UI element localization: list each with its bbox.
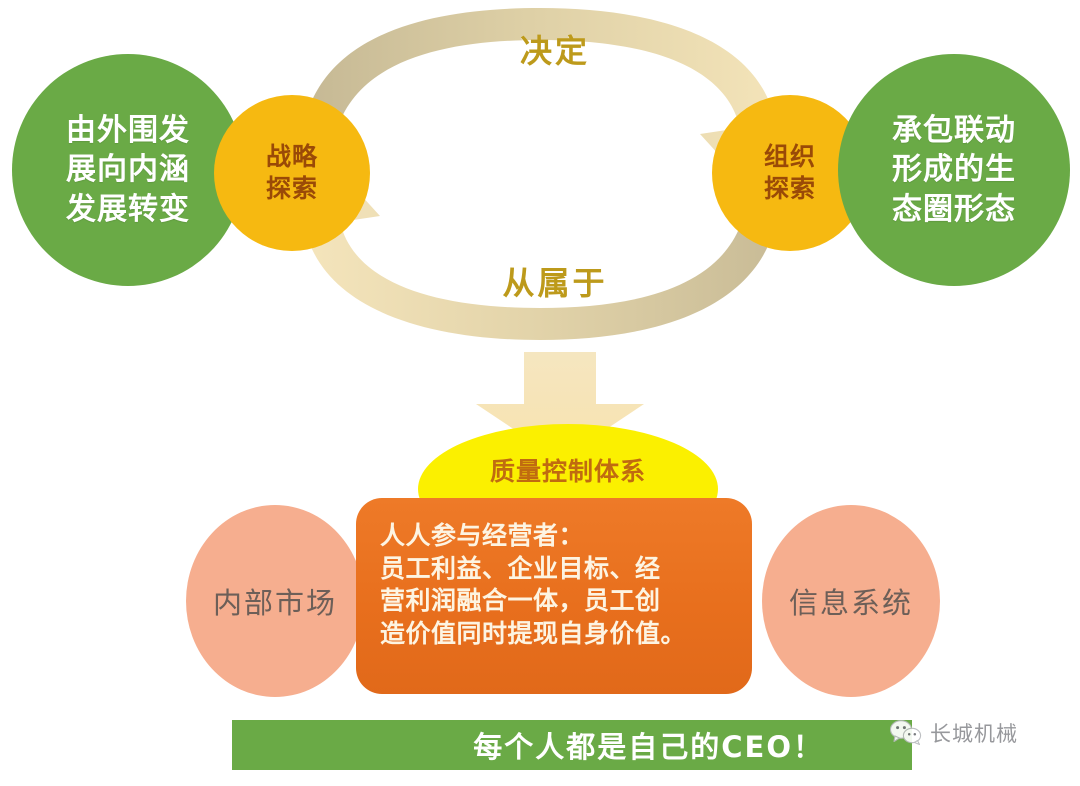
diagram-canvas: 由外围发 展向内涵 发展转变 战略 探索 组织 探索 承包联动 形成的生 态圈形… — [0, 0, 1080, 786]
watermark: 长城机械 — [890, 718, 1018, 748]
relation-label-belongs-to: 从属于 — [455, 258, 655, 304]
ellipse-information-system: 信息系统 — [762, 505, 940, 697]
watermark-label: 长城机械 — [930, 718, 1018, 748]
wechat-icon — [890, 719, 922, 747]
ellipse-internal-market: 内部市场 — [186, 505, 364, 697]
banner-everyone-is-own-ceo: 每个人都是自己的CEO！ — [232, 720, 912, 770]
outer-circle-right: 承包联动 形成的生 态圈形态 — [838, 54, 1070, 286]
node-strategy-exploration[interactable]: 战略 探索 — [214, 95, 370, 251]
callout-everyone-participates: 人人参与经营者： 员工利益、企业目标、经 营利润融合一体，员工创 造价值同时提现… — [356, 498, 752, 694]
relation-label-decides: 决定 — [455, 26, 655, 72]
outer-circle-left: 由外围发 展向内涵 发展转变 — [12, 54, 244, 286]
